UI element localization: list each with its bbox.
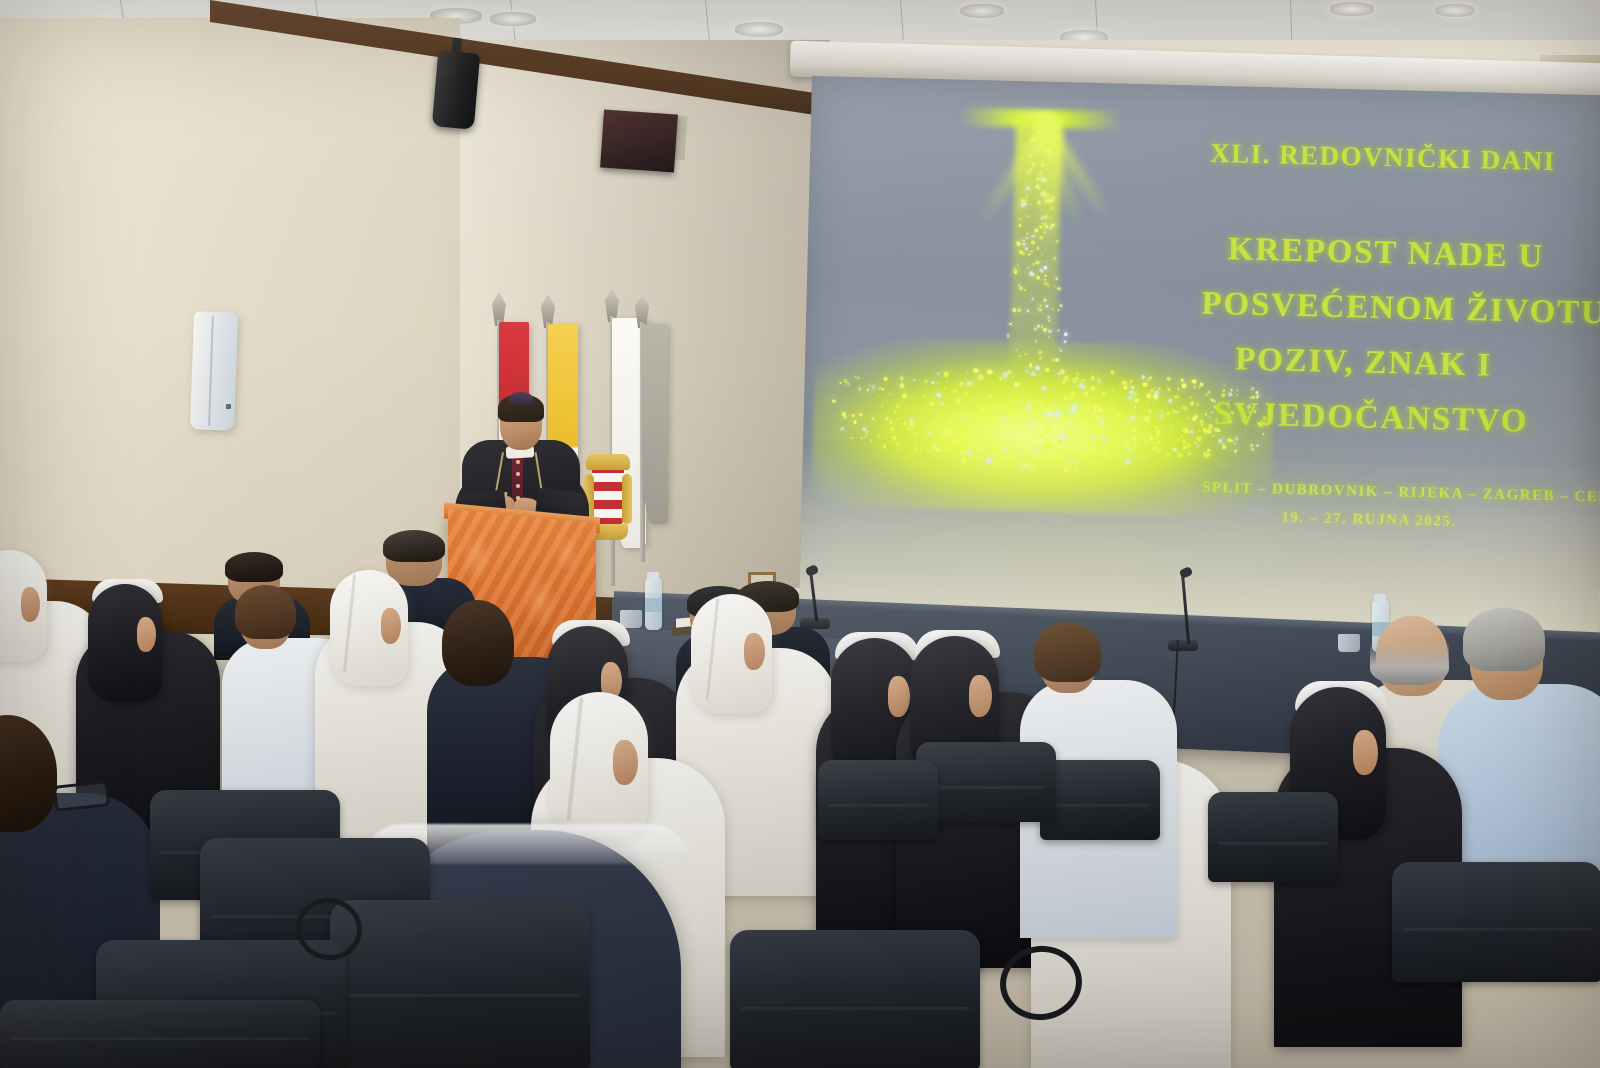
particle: [936, 372, 939, 375]
particle: [881, 387, 884, 390]
particle: [1060, 434, 1065, 439]
particle: [1053, 257, 1056, 260]
particle: [1130, 380, 1132, 382]
particle: [937, 411, 939, 413]
particle: [1134, 406, 1136, 408]
chair-back: [1208, 792, 1338, 882]
particle: [1206, 429, 1211, 434]
particle: [1173, 409, 1177, 413]
particle: [1036, 275, 1040, 279]
particle: [928, 431, 931, 434]
particle: [1148, 410, 1152, 414]
chair-seam: [10, 1037, 310, 1040]
particle: [1022, 252, 1025, 255]
particle: [998, 376, 1002, 380]
chair-seam: [1050, 804, 1150, 807]
sister-white-face-side: [381, 608, 401, 644]
ceiling-speaker-icon: [432, 50, 480, 129]
bottle-label: [645, 598, 662, 612]
particle: [1146, 393, 1151, 398]
cassock-button: [516, 460, 520, 464]
particle: [1045, 428, 1051, 434]
particle: [1027, 266, 1029, 268]
particle: [1203, 409, 1204, 410]
particle: [973, 368, 978, 373]
microphone-base: [1168, 640, 1198, 651]
particle: [970, 401, 972, 403]
particle: [901, 380, 903, 382]
particle: [1026, 441, 1031, 446]
chair-back: [1392, 862, 1600, 982]
particle: [894, 410, 897, 413]
chair-back: [0, 1000, 320, 1068]
cassock-button: [516, 484, 520, 488]
particle: [1063, 332, 1067, 336]
particle: [1093, 404, 1099, 410]
particle: [965, 372, 967, 374]
particle: [853, 420, 857, 424]
particle: [851, 414, 854, 417]
particle: [1025, 237, 1027, 239]
particle: [1190, 397, 1192, 399]
chair-seam: [740, 1007, 970, 1010]
slide-title-line-1: KREPOST NADE U: [1227, 231, 1544, 276]
particle: [975, 422, 977, 424]
particle: [1144, 417, 1150, 423]
particle: [1196, 453, 1197, 454]
particle: [937, 393, 942, 398]
particle: [910, 423, 915, 428]
particle: [859, 414, 861, 416]
particle: [840, 427, 844, 431]
recessed-light: [960, 4, 1004, 18]
particle: [978, 379, 980, 381]
particle: [1071, 405, 1077, 411]
attendee-long-hair-hair: [442, 600, 514, 686]
sister-black-face-side: [888, 676, 910, 717]
particle: [1057, 329, 1060, 332]
particle: [1170, 448, 1172, 450]
particle: [1167, 376, 1171, 380]
particle: [1133, 415, 1136, 418]
chair-back: [330, 900, 590, 1068]
shadow-flag: [642, 324, 668, 524]
particle: [1182, 405, 1186, 409]
particle: [1025, 370, 1028, 373]
particle: [871, 385, 875, 389]
particle: [1156, 430, 1161, 435]
attendee-hair: [225, 552, 283, 582]
particle: [1146, 379, 1148, 381]
particle: [1014, 382, 1020, 388]
attendee-hair: [383, 530, 445, 562]
particle: [1170, 399, 1172, 401]
particle: [1060, 419, 1065, 424]
particle: [1117, 398, 1119, 400]
particle: [1020, 425, 1022, 427]
cassock-button: [516, 496, 520, 500]
sister-white-face-side: [21, 587, 40, 622]
particle: [1198, 386, 1200, 388]
particle: [1023, 243, 1025, 245]
particle: [881, 404, 884, 407]
particle: [1222, 389, 1225, 392]
particle: [1124, 442, 1130, 448]
particle: [1029, 374, 1031, 376]
particle: [1192, 379, 1197, 384]
particle: [1141, 375, 1145, 379]
chair-back: [730, 930, 980, 1068]
particle: [1158, 413, 1163, 418]
particle: [963, 404, 965, 406]
particle: [1234, 442, 1236, 444]
particle: [1201, 423, 1204, 426]
particle: [1209, 416, 1210, 417]
air-conditioner-icon: [190, 311, 238, 430]
particle: [1180, 435, 1182, 437]
particle: [1042, 328, 1046, 332]
particle: [1055, 358, 1059, 362]
particle: [980, 407, 984, 411]
particle: [1193, 385, 1196, 388]
particle: [1070, 431, 1076, 437]
particle: [942, 403, 944, 405]
particle: [1150, 389, 1153, 392]
particle: [1048, 330, 1051, 333]
particle: [1038, 350, 1042, 354]
particle: [832, 399, 836, 403]
particle: [948, 421, 952, 425]
particle: [1031, 241, 1035, 245]
sister-white-face-side: [744, 633, 765, 670]
conference-hall-photo: XLI. REDOVNIČKI DANI KREPOST NADE U POSV…: [0, 0, 1600, 1068]
particle: [1197, 404, 1199, 406]
particle: [1059, 349, 1062, 352]
particle: [1029, 364, 1032, 367]
cassock-button: [516, 472, 520, 476]
zucchetto-icon: [509, 392, 533, 405]
particle: [1127, 395, 1132, 400]
particle: [1012, 308, 1016, 312]
particle: [1047, 316, 1050, 319]
particle: [929, 401, 934, 406]
particle: [1149, 435, 1154, 440]
chair-seam: [828, 804, 928, 807]
particle: [920, 410, 922, 412]
particle: [1036, 261, 1040, 265]
particle: [1024, 353, 1027, 356]
particle: [939, 402, 941, 404]
particle: [998, 439, 1004, 445]
particle: [1127, 422, 1129, 424]
wall-monitor-icon: [600, 109, 678, 172]
attendee-white-shirt-hair: [1034, 622, 1101, 682]
particle: [910, 418, 914, 422]
particle: [1026, 403, 1032, 409]
particle: [1250, 444, 1253, 447]
particle: [866, 389, 869, 392]
particle: [1207, 391, 1210, 394]
attendee-grey-hair-hair: [1463, 608, 1545, 671]
particle: [902, 394, 906, 398]
particle: [1183, 446, 1186, 449]
particle: [1071, 392, 1074, 395]
particle: [1055, 410, 1062, 417]
particle: [1006, 369, 1011, 374]
particle: [1207, 449, 1210, 452]
particle: [1017, 401, 1020, 404]
particle: [1025, 247, 1028, 250]
particle: [1034, 328, 1037, 331]
particle: [1101, 424, 1103, 426]
air-conditioner-indicator: [226, 404, 231, 409]
particle: [1043, 266, 1047, 270]
particle: [1224, 385, 1226, 387]
bottle-cap: [647, 572, 659, 581]
chair-seam: [340, 994, 580, 997]
recessed-light: [1435, 4, 1475, 17]
particle: [1057, 287, 1061, 291]
particle: [1035, 366, 1040, 371]
chair-seam: [926, 786, 1046, 789]
particle: [1017, 325, 1018, 326]
recessed-light: [1330, 2, 1374, 16]
recessed-light: [735, 22, 783, 37]
attendee-white-shirt-hair: [235, 585, 296, 639]
sister-black-foreground-face-side: [969, 675, 992, 717]
particle: [987, 369, 993, 375]
sister-white-foreground-face-side: [613, 740, 638, 785]
particle: [1029, 419, 1033, 423]
particle: [1167, 412, 1170, 415]
projection-screen: XLI. REDOVNIČKI DANI KREPOST NADE U POSV…: [799, 76, 1600, 635]
particle: [1039, 357, 1042, 360]
particle: [1133, 396, 1135, 398]
particle: [1146, 402, 1148, 404]
chair-seam: [1402, 928, 1592, 931]
particle: [1055, 277, 1058, 280]
drinking-glass: [1338, 634, 1360, 652]
particle: [856, 376, 859, 379]
particle: [1202, 427, 1206, 431]
particle: [955, 390, 958, 393]
particle: [1155, 436, 1158, 439]
particle: [1186, 443, 1191, 448]
particle: [1174, 449, 1177, 452]
particle: [1041, 254, 1042, 255]
particle: [923, 395, 926, 398]
particle: [896, 442, 901, 447]
coat-of-arms-flourish-right: [622, 474, 632, 524]
attendee-bald-hair-fringe: [1370, 643, 1449, 685]
chair-seam: [1218, 842, 1328, 845]
particle: [1019, 355, 1021, 357]
sister-black-face-side: [137, 617, 156, 652]
particle: [1184, 428, 1189, 433]
particle: [1013, 269, 1017, 273]
particle: [1060, 369, 1065, 374]
particle: [1205, 393, 1207, 395]
particle: [1181, 378, 1184, 381]
particle: [1234, 450, 1237, 453]
particle: [1250, 388, 1252, 390]
particle: [890, 427, 894, 431]
particle: [1036, 341, 1038, 343]
particle: [1130, 415, 1132, 417]
particle: [1047, 284, 1049, 286]
particle: [1041, 400, 1045, 404]
particle: [1179, 420, 1181, 422]
particle: [1057, 309, 1059, 311]
particle: [1048, 320, 1050, 322]
particle: [1083, 391, 1089, 397]
particle: [943, 386, 945, 388]
particle: [924, 379, 927, 382]
particle: [1017, 242, 1021, 246]
particle: [896, 404, 900, 408]
coat-of-arms-scroll-top: [586, 454, 630, 470]
particle: [839, 381, 841, 383]
chair-back: [1040, 760, 1160, 840]
slide-title-line-3: POZIV, ZNAK I: [1235, 341, 1493, 384]
particle: [1098, 437, 1102, 441]
particle: [865, 435, 868, 438]
particle: [1019, 286, 1023, 290]
particle: [960, 382, 964, 386]
particle: [1139, 434, 1143, 438]
particle: [1059, 304, 1062, 307]
particle: [1110, 371, 1114, 375]
particle: [1046, 260, 1047, 261]
particle: [1039, 406, 1043, 410]
particle: [1148, 376, 1151, 379]
bottle-cap: [1374, 594, 1386, 603]
particle: [913, 432, 917, 436]
particle: [1017, 444, 1019, 446]
particle: [946, 430, 950, 434]
particle: [1081, 378, 1084, 381]
particle: [905, 443, 907, 445]
particle: [1092, 435, 1095, 438]
particle: [1042, 442, 1048, 448]
particle: [889, 393, 891, 395]
particle: [1091, 412, 1095, 416]
particle: [1177, 438, 1180, 441]
particle: [1122, 380, 1126, 384]
sister-black-foreground-face-side: [1353, 730, 1378, 775]
recessed-light: [490, 12, 536, 26]
slide-title-line-4: SVJEDOČANSTVO: [1213, 396, 1528, 441]
particle: [1005, 419, 1007, 421]
particle: [865, 431, 868, 434]
particle: [951, 427, 953, 429]
chair-back: [818, 760, 938, 840]
particle: [1154, 447, 1157, 450]
